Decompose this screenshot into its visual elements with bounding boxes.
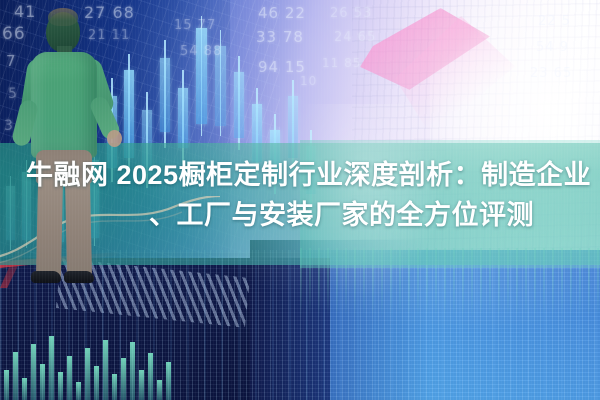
ticker-number: 15 77 bbox=[174, 18, 216, 33]
green-bar bbox=[157, 380, 162, 400]
ticker-number: 94 15 bbox=[258, 58, 306, 76]
person-raised-hand bbox=[107, 130, 122, 147]
ticker-number: 21 11 bbox=[88, 28, 130, 43]
green-bar bbox=[121, 358, 126, 400]
green-bar bbox=[49, 336, 54, 400]
person-left-shoe bbox=[31, 271, 61, 283]
green-bar bbox=[94, 366, 99, 400]
title-line-1: 牛融网 2025橱柜定制行业深度剖析：制造企业 bbox=[0, 155, 600, 195]
green-bar bbox=[103, 340, 108, 400]
ticker-number: 5 bbox=[8, 86, 18, 102]
title-line-2: 、工厂与安装厂家的全方位评测 bbox=[0, 195, 600, 235]
ticker-number: 10 bbox=[300, 74, 317, 88]
ticker-number: 24 65 bbox=[334, 30, 376, 45]
ticker-number: 33 78 bbox=[256, 28, 304, 46]
green-bar bbox=[85, 348, 90, 400]
green-bar bbox=[148, 353, 153, 400]
green-bar bbox=[40, 364, 45, 400]
banner-title: 牛融网 2025橱柜定制行业深度剖析：制造企业 、工厂与安装厂家的全方位评测 bbox=[0, 155, 600, 235]
ticker-number: 66 bbox=[2, 24, 26, 44]
ticker-number: 11 85 bbox=[322, 56, 361, 70]
green-bar bbox=[31, 344, 36, 400]
ticker-number: 46 22 bbox=[258, 4, 306, 22]
ticker-number: 23 65 bbox=[530, 66, 572, 81]
green-bar bbox=[4, 370, 9, 400]
ticker-number: 7 bbox=[6, 52, 17, 70]
person-jacket-torso bbox=[31, 52, 97, 158]
green-bar bbox=[130, 342, 135, 400]
banner-image: 416675327 6821 1115 7754 8846 2233 7894 … bbox=[0, 0, 600, 400]
ticker-number: 41 bbox=[14, 2, 36, 21]
ticker-number: 27 68 bbox=[84, 3, 135, 22]
person-hair bbox=[48, 8, 78, 26]
ticker-number: 26 53 bbox=[330, 6, 372, 21]
ticker-number: 54 88 bbox=[180, 44, 222, 59]
ticker-number: 22 5 bbox=[538, 14, 571, 29]
green-bar bbox=[166, 362, 171, 400]
green-bar bbox=[139, 370, 144, 400]
green-bar bbox=[58, 372, 63, 400]
green-bar bbox=[76, 382, 81, 400]
green-bar bbox=[112, 374, 117, 400]
ticker-number: 54 9 bbox=[536, 40, 569, 55]
green-bar bbox=[67, 356, 72, 400]
green-bar bbox=[13, 352, 18, 400]
person-right-shoe bbox=[64, 271, 94, 283]
green-bar bbox=[22, 378, 27, 400]
